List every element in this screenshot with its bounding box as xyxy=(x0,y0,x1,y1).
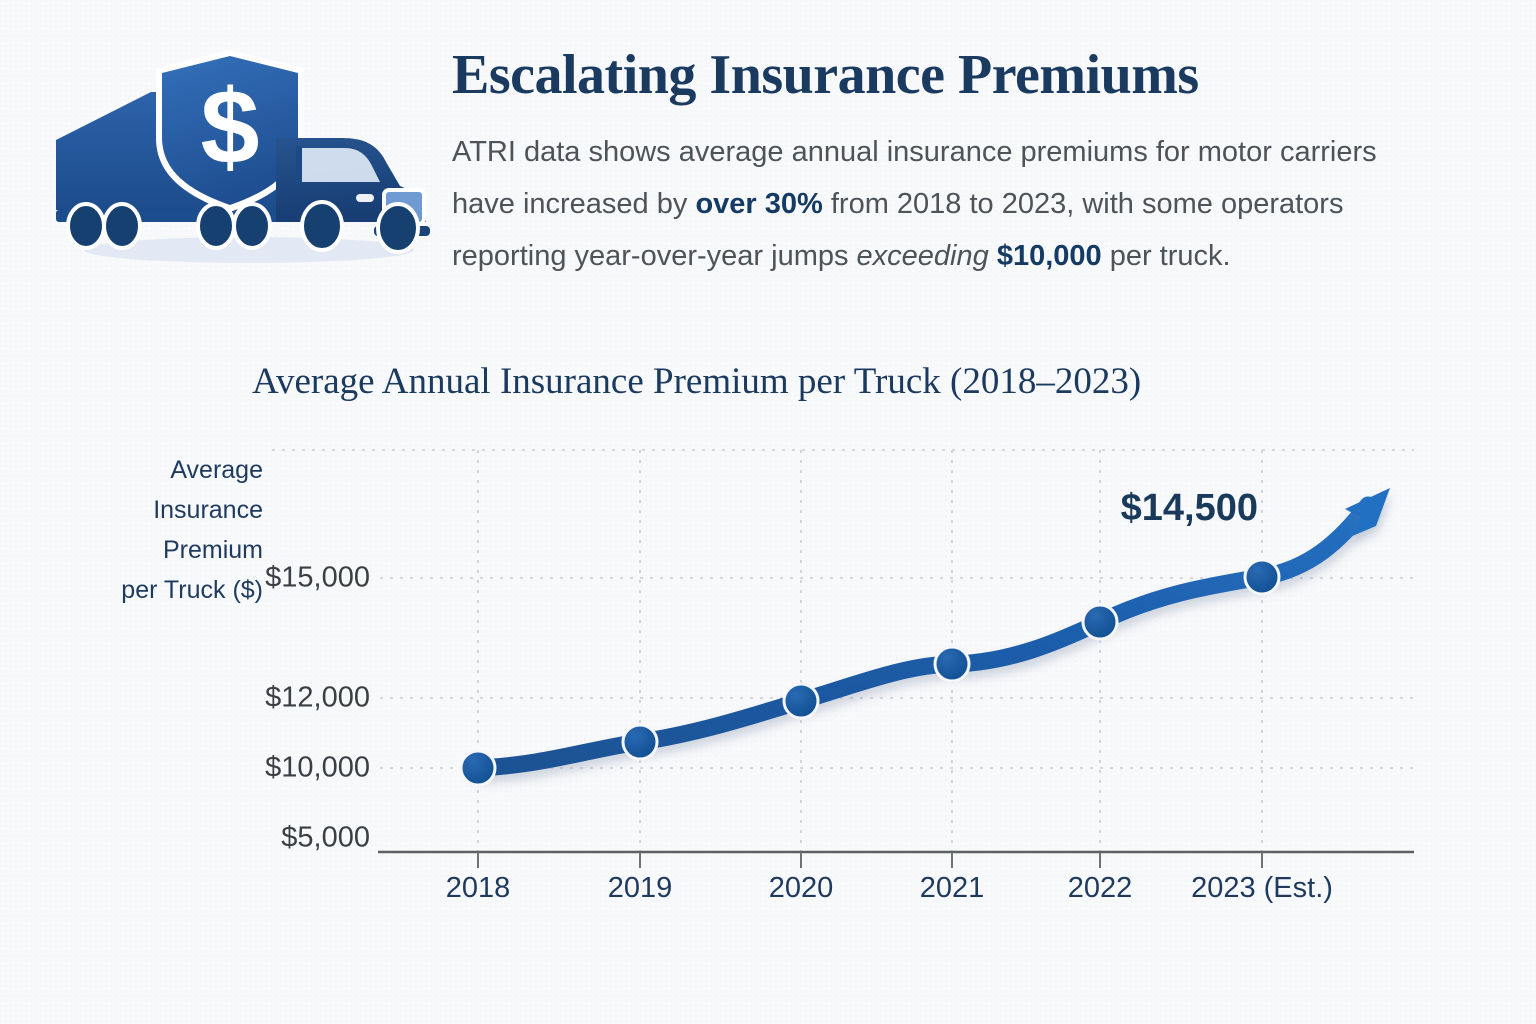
plot-area: Average Insurance Premium per Truck ($) … xyxy=(0,345,1536,985)
page-title: Escalating Insurance Premiums xyxy=(452,44,1432,106)
data-point-2022 xyxy=(1083,605,1117,639)
lede-paragraph: ATRI data shows average annual insurance… xyxy=(452,126,1432,282)
data-point-2023 xyxy=(1245,560,1279,594)
infographic-page: $ xyxy=(0,0,1536,1024)
data-point-2019 xyxy=(623,725,657,759)
header-text-block: Escalating Insurance Premiums ATRI data … xyxy=(452,44,1432,282)
data-point-2021 xyxy=(935,647,969,681)
x-axis-ticks xyxy=(478,852,1262,868)
truck-shield-dollar-icon: $ xyxy=(44,42,436,272)
data-point-2018 xyxy=(461,751,495,785)
lede-italic-exceeding: exceeding xyxy=(857,240,989,272)
chart-section: Average Annual Insurance Premium per Tru… xyxy=(0,345,1536,985)
lede-seg-3: per truck. xyxy=(1102,240,1231,272)
lede-bold-over-30: over 30% xyxy=(695,188,822,220)
header-section: $ xyxy=(0,0,1536,345)
data-point-2020 xyxy=(784,684,818,718)
svg-text:$: $ xyxy=(201,68,260,186)
annotation-value-label: $14,500 xyxy=(1121,487,1258,529)
lede-bold-10000: $10,000 xyxy=(989,240,1102,272)
trend-line xyxy=(478,505,1368,768)
